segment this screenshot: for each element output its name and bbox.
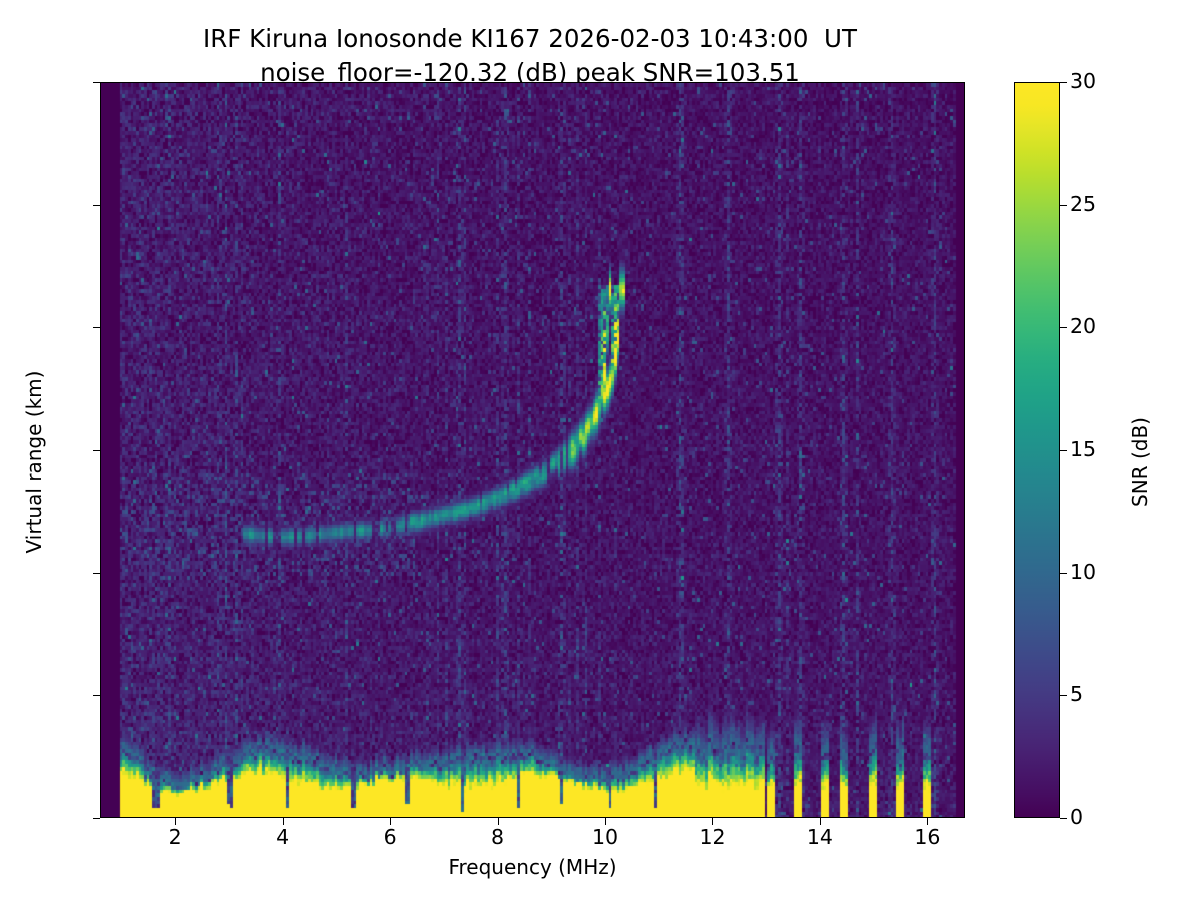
x-tick-label: 8 — [468, 825, 528, 849]
colorbar-tick-mark — [1060, 82, 1067, 83]
colorbar-tick-label: 30 — [1070, 69, 1096, 93]
x-tick-mark — [175, 818, 176, 825]
colorbar-tick-mark — [1060, 573, 1067, 574]
x-tick-mark — [927, 818, 928, 825]
x-tick-label: 4 — [253, 825, 313, 849]
x-tick-label: 2 — [145, 825, 205, 849]
y-tick-mark — [93, 82, 100, 83]
ionogram-heatmap — [101, 83, 965, 818]
y-tick-mark — [93, 450, 100, 451]
x-tick-label: 12 — [682, 825, 742, 849]
colorbar-tick-label: 20 — [1070, 314, 1096, 338]
colorbar-tick-mark — [1060, 818, 1067, 819]
x-tick-label: 14 — [790, 825, 850, 849]
x-tick-mark — [605, 818, 606, 825]
x-axis-label: Frequency (MHz) — [100, 855, 965, 879]
figure-title: IRF Kiruna Ionosonde KI167 2026-02-03 10… — [0, 22, 1060, 90]
x-tick-label: 16 — [897, 825, 957, 849]
title-line-1: IRF Kiruna Ionosonde KI167 2026-02-03 10… — [0, 22, 1060, 56]
colorbar-gradient — [1015, 83, 1059, 817]
ionogram-plot-area — [100, 82, 965, 818]
colorbar — [1014, 82, 1060, 818]
colorbar-tick-label: 15 — [1070, 437, 1096, 461]
colorbar-tick-label: 0 — [1070, 805, 1083, 829]
y-tick-mark — [93, 205, 100, 206]
ionogram-figure: IRF Kiruna Ionosonde KI167 2026-02-03 10… — [0, 0, 1200, 900]
colorbar-tick-mark — [1060, 450, 1067, 451]
x-tick-mark — [390, 818, 391, 825]
colorbar-tick-label: 5 — [1070, 682, 1083, 706]
colorbar-label: SNR (dB) — [1128, 362, 1152, 562]
y-tick-mark — [93, 327, 100, 328]
x-tick-label: 10 — [575, 825, 635, 849]
colorbar-tick-label: 25 — [1070, 192, 1096, 216]
x-tick-mark — [283, 818, 284, 825]
x-tick-mark — [712, 818, 713, 825]
x-tick-label: 6 — [360, 825, 420, 849]
y-tick-mark — [93, 818, 100, 819]
colorbar-tick-label: 10 — [1070, 560, 1096, 584]
x-tick-mark — [820, 818, 821, 825]
x-tick-mark — [498, 818, 499, 825]
colorbar-tick-mark — [1060, 205, 1067, 206]
y-axis-label: Virtual range (km) — [22, 332, 46, 592]
colorbar-tick-mark — [1060, 327, 1067, 328]
y-tick-mark — [93, 695, 100, 696]
colorbar-tick-mark — [1060, 695, 1067, 696]
y-tick-mark — [93, 573, 100, 574]
